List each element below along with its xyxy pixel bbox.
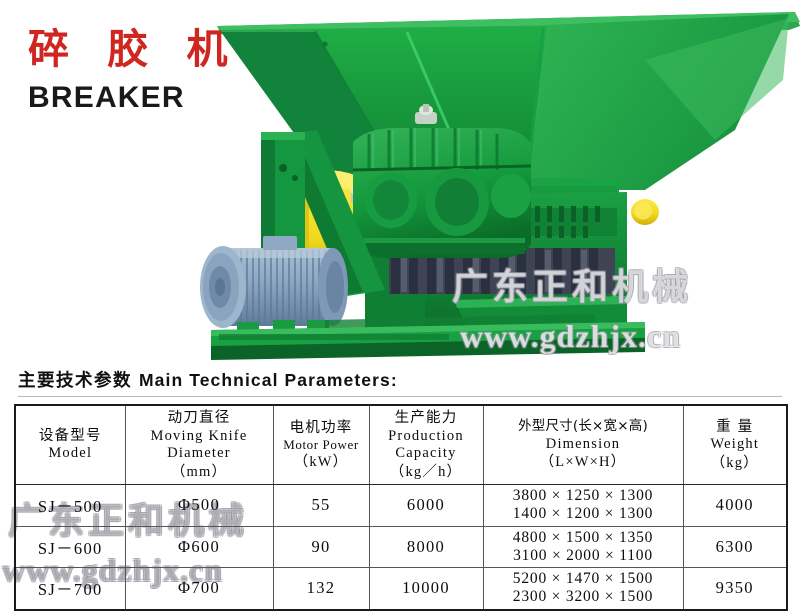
header-dimension-en: Dimension: [486, 436, 681, 454]
header-knife-diameter-en2: Diameter: [128, 445, 271, 463]
table-row: SJ－700 Φ700 132 10000 5200 × 1470 × 1500…: [15, 568, 787, 610]
header-knife-diameter-cn: 动刀直径: [128, 409, 271, 428]
page-title-english: BREAKER: [28, 83, 240, 113]
header-weight-en: Weight: [686, 436, 785, 454]
cell-weight: 9350: [683, 568, 787, 610]
cell-motor-power: 132: [273, 568, 369, 610]
cell-weight: 4000: [683, 485, 787, 527]
cell-model: SJ－500: [15, 485, 125, 527]
header-model-en: Model: [18, 445, 123, 463]
cell-model: SJ－600: [15, 526, 125, 568]
table-row: SJ－600 Φ600 90 8000 4800 × 1500 × 1350 3…: [15, 526, 787, 568]
header-dimension-cn: 外型尺寸(长×宽×高): [486, 418, 681, 435]
header-dimension-unit: （L×W×H）: [486, 453, 681, 471]
electric-motor: [200, 236, 348, 334]
table-header: 设备型号 Model 动刀直径 Moving Knife Diameter （m…: [15, 405, 787, 485]
header-model-cn: 设备型号: [18, 427, 123, 446]
header-weight: 重 量 Weight （kg）: [683, 405, 787, 485]
spec-table-container: 设备型号 Model 动刀直径 Moving Knife Diameter （m…: [14, 404, 786, 611]
product-photo: [175, 0, 800, 362]
page-title-block: 碎 胶 机 BREAKER: [28, 28, 240, 113]
header-motor-power-en: Motor Power: [276, 437, 367, 453]
header-motor-power: 电机功率 Motor Power （kW）: [273, 405, 369, 485]
table-body: SJ－500 Φ500 55 6000 3800 × 1250 × 1300 1…: [15, 485, 787, 610]
cell-dimension: 3800 × 1250 × 1300 1400 × 1200 × 1300: [483, 485, 683, 527]
cell-capacity: 8000: [369, 526, 483, 568]
cell-dimension-line2: 1400 × 1200 × 1300: [486, 505, 681, 523]
header-knife-diameter-unit: （mm）: [128, 463, 271, 481]
header-knife-diameter: 动刀直径 Moving Knife Diameter （mm）: [125, 405, 273, 485]
header-weight-cn: 重 量: [686, 418, 785, 437]
cell-dimension: 5200 × 1470 × 1500 2300 × 3200 × 1500: [483, 568, 683, 610]
header-knife-diameter-en1: Moving Knife: [128, 428, 271, 446]
cell-motor-power: 55: [273, 485, 369, 527]
cell-dimension-line2: 2300 × 3200 × 1500: [486, 588, 681, 606]
header-dimension: 外型尺寸(长×宽×高) Dimension （L×W×H）: [483, 405, 683, 485]
cell-model: SJ－700: [15, 568, 125, 610]
section-heading-chinese: 主要技术参数: [18, 371, 132, 391]
table-header-row: 设备型号 Model 动刀直径 Moving Knife Diameter （m…: [15, 405, 787, 485]
cell-dimension-line1: 4800 × 1500 × 1350: [486, 529, 681, 547]
section-heading-english: Main Technical Parameters:: [139, 370, 398, 390]
cell-capacity: 10000: [369, 568, 483, 610]
cell-knife-diameter: Φ700: [125, 568, 273, 610]
header-model: 设备型号 Model: [15, 405, 125, 485]
page-title-chinese: 碎 胶 机: [28, 28, 240, 71]
cell-capacity: 6000: [369, 485, 483, 527]
cell-knife-diameter: Φ600: [125, 526, 273, 568]
cell-dimension: 4800 × 1500 × 1350 3100 × 2000 × 1100: [483, 526, 683, 568]
cell-weight: 6300: [683, 526, 787, 568]
header-motor-power-unit: （kW）: [276, 453, 367, 471]
header-motor-power-cn: 电机功率: [276, 419, 367, 438]
cell-dimension-line2: 3100 × 2000 × 1100: [486, 547, 681, 565]
product-spec-page: 碎 胶 机 BREAKER: [0, 0, 800, 612]
section-heading: 主要技术参数Main Technical Parameters:: [18, 367, 398, 392]
technical-parameters-table: 设备型号 Model 动刀直径 Moving Knife Diameter （m…: [14, 404, 788, 611]
header-capacity: 生产能力 Production Capacity （kg／h）: [369, 405, 483, 485]
header-capacity-unit: （kg／h）: [372, 463, 481, 481]
header-weight-unit: （kg）: [686, 454, 785, 472]
cell-dimension-line1: 3800 × 1250 × 1300: [486, 487, 681, 505]
header-capacity-en1: Production: [372, 428, 481, 446]
header-capacity-cn: 生产能力: [372, 409, 481, 428]
cell-dimension-line1: 5200 × 1470 × 1500: [486, 570, 681, 588]
cell-knife-diameter: Φ500: [125, 485, 273, 527]
header-capacity-en2: Capacity: [372, 445, 481, 463]
cell-motor-power: 90: [273, 526, 369, 568]
table-row: SJ－500 Φ500 55 6000 3800 × 1250 × 1300 1…: [15, 485, 787, 527]
heading-divider: [18, 396, 782, 397]
